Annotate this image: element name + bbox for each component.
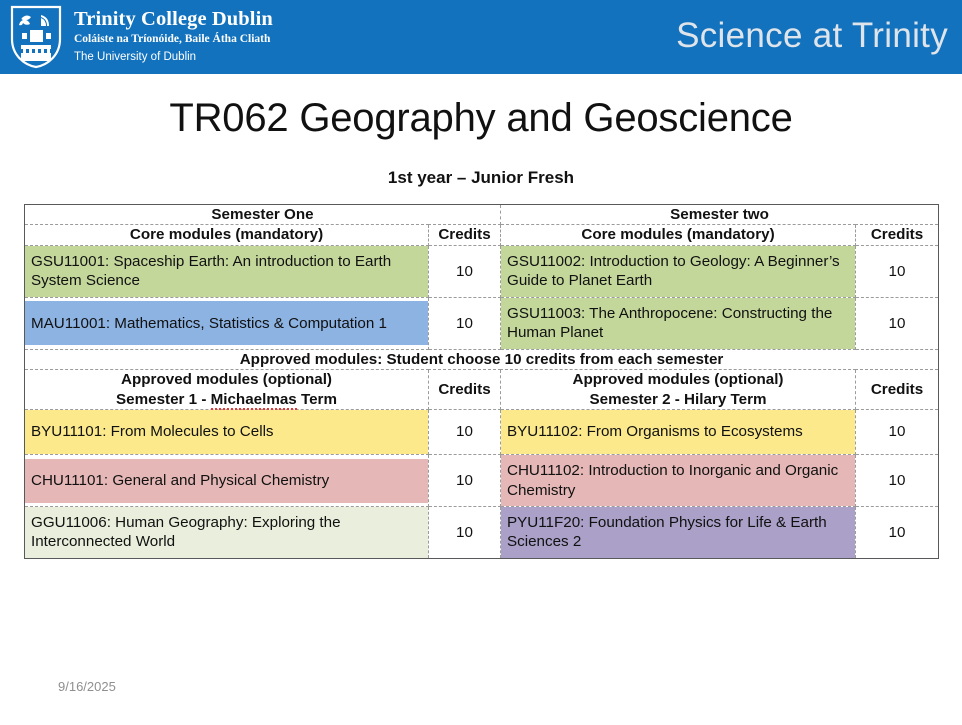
optional-module-credits: 10 xyxy=(429,410,501,455)
header-banner: Trinity College Dublin Coláiste na Tríon… xyxy=(0,0,962,74)
optional-module-credits: 10 xyxy=(856,410,939,455)
optional-module-credits: 10 xyxy=(856,506,939,558)
optional-module-credits: 10 xyxy=(856,455,939,507)
optional-header-left-line2-suffix: Term xyxy=(297,391,337,408)
university-name: Trinity College Dublin xyxy=(74,9,273,31)
optional-module-cell: BYU11101: From Molecules to Cells xyxy=(25,410,429,455)
optional-credits-header-left: Credits xyxy=(429,370,501,410)
optional-header-right-line2: Semester 2 - Hilary Term xyxy=(590,391,767,408)
core-modules-header-right: Core modules (mandatory) xyxy=(501,225,856,245)
core-module-cell: GSU11002: Introduction to Geology: A Beg… xyxy=(501,245,856,297)
optional-header-left-line1: Approved modules (optional) xyxy=(121,371,332,388)
table-row-semester-headers: Semester One Semester two xyxy=(25,205,939,225)
optional-module-label: CHU11102: Introduction to Inorganic and … xyxy=(501,455,855,506)
trinity-college-crest-icon xyxy=(10,5,62,69)
core-module-label: MAU11001: Mathematics, Statistics & Comp… xyxy=(25,301,428,345)
slide-date: 9/16/2025 xyxy=(58,679,116,694)
core-module-credits: 10 xyxy=(429,297,501,349)
table-row: MAU11001: Mathematics, Statistics & Comp… xyxy=(25,297,939,349)
optional-module-credits: 10 xyxy=(429,506,501,558)
optional-module-label: CHU11101: General and Physical Chemistry xyxy=(25,459,428,503)
university-subtitle: The University of Dublin xyxy=(74,48,273,66)
wordmark: Trinity College Dublin Coláiste na Tríon… xyxy=(74,5,273,66)
optional-module-label: PYU11F20: Foundation Physics for Life & … xyxy=(501,507,855,558)
optional-module-cell: CHU11101: General and Physical Chemistry xyxy=(25,455,429,507)
university-name-irish: Coláiste na Tríonóide, Baile Átha Cliath xyxy=(74,31,273,48)
core-module-cell: MAU11001: Mathematics, Statistics & Comp… xyxy=(25,297,429,349)
curriculum-table: Semester One Semester two Core modules (… xyxy=(24,204,939,559)
optional-module-cell: PYU11F20: Foundation Physics for Life & … xyxy=(501,506,856,558)
optional-module-cell: BYU11102: From Organisms to Ecosystems xyxy=(501,410,856,455)
credits-header-left: Credits xyxy=(429,225,501,245)
table-row-approved-banner: Approved modules: Student choose 10 cred… xyxy=(25,349,939,369)
table-row: CHU11101: General and Physical Chemistry… xyxy=(25,455,939,507)
semester-one-header: Semester One xyxy=(25,205,501,225)
core-module-label: GSU11002: Introduction to Geology: A Beg… xyxy=(501,246,855,297)
optional-module-cell: CHU11102: Introduction to Inorganic and … xyxy=(501,455,856,507)
optional-module-label: BYU11101: From Molecules to Cells xyxy=(25,410,428,454)
approved-modules-banner: Approved modules: Student choose 10 cred… xyxy=(25,349,939,369)
optional-header-left-term: Michaelmas xyxy=(211,391,297,410)
page-title: TR062 Geography and Geoscience xyxy=(0,96,962,141)
table-row: GGU11006: Human Geography: Exploring the… xyxy=(25,506,939,558)
table-row-optional-headers: Approved modules (optional) Semester 1 -… xyxy=(25,370,939,410)
optional-modules-header-right: Approved modules (optional) Semester 2 -… xyxy=(501,370,856,410)
core-modules-header-left: Core modules (mandatory) xyxy=(25,225,429,245)
optional-header-right-line1: Approved modules (optional) xyxy=(573,371,784,388)
core-module-credits: 10 xyxy=(429,245,501,297)
core-module-cell: GSU11001: Spaceship Earth: An introducti… xyxy=(25,245,429,297)
optional-module-credits: 10 xyxy=(429,455,501,507)
credits-header-right: Credits xyxy=(856,225,939,245)
semester-two-header: Semester two xyxy=(501,205,939,225)
core-module-cell: GSU11003: The Anthropocene: Constructing… xyxy=(501,297,856,349)
core-module-label: GSU11003: The Anthropocene: Constructing… xyxy=(501,298,855,349)
branding-block: Trinity College Dublin Coláiste na Tríon… xyxy=(10,5,273,69)
table-row: BYU11101: From Molecules to Cells 10 BYU… xyxy=(25,410,939,455)
page-subtitle: 1st year – Junior Fresh xyxy=(0,168,962,188)
table-row-core-headers: Core modules (mandatory) Credits Core mo… xyxy=(25,225,939,245)
optional-header-left-line2-prefix: Semester 1 - xyxy=(116,391,211,408)
optional-module-label: GGU11006: Human Geography: Exploring the… xyxy=(25,507,428,558)
optional-credits-header-right: Credits xyxy=(856,370,939,410)
core-module-credits: 10 xyxy=(856,297,939,349)
optional-module-cell: GGU11006: Human Geography: Exploring the… xyxy=(25,506,429,558)
table-row: GSU11001: Spaceship Earth: An introducti… xyxy=(25,245,939,297)
optional-module-label: BYU11102: From Organisms to Ecosystems xyxy=(501,410,855,454)
banner-right-label: Science at Trinity xyxy=(676,16,948,56)
optional-modules-header-left: Approved modules (optional) Semester 1 -… xyxy=(25,370,429,410)
core-module-credits: 10 xyxy=(856,245,939,297)
core-module-label: GSU11001: Spaceship Earth: An introducti… xyxy=(25,246,428,297)
